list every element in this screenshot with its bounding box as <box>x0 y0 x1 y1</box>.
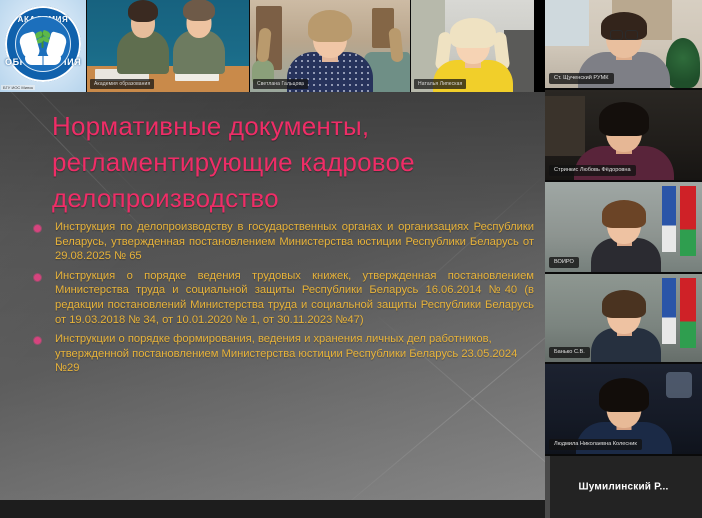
tile-plant <box>666 38 700 88</box>
tile-window <box>545 0 589 46</box>
participant-sidebar: Ст. Щученский РУМК Стринкис Любовь Фёдор… <box>545 0 702 500</box>
logo-corner-label: БГУ ИОС Минск <box>1 85 35 90</box>
slide-title: Нормативные документы, регламентирующие … <box>52 108 532 216</box>
book-icon <box>25 56 61 65</box>
shared-presentation-slide[interactable]: Нормативные документы, регламентирующие … <box>0 92 545 500</box>
participant-name-label: Ст. Щученский РУМК <box>549 73 614 84</box>
participant-name-label: Банько С.В. <box>549 347 590 358</box>
participant-name-label: Стринкис Любовь Фёдоровна <box>549 165 636 176</box>
tile-flag-blue <box>662 278 676 344</box>
list-item: Инструкции о порядке формирования, веден… <box>34 332 534 376</box>
tile-hair-right <box>388 27 403 62</box>
academy-logo-icon: АКАДЕМИЯ ОБРАЗОВАНИЯ <box>5 6 81 82</box>
slide-bullet-list: Инструкция по делопроизводству в государ… <box>34 220 534 381</box>
tile-person-hair <box>308 10 352 42</box>
bullet-marker-icon <box>34 274 41 281</box>
participant-name-label: Шумилинский Р... <box>545 482 702 493</box>
tile-person-hair <box>450 18 496 48</box>
participant-name-label: Светлана Гальцова <box>253 79 308 89</box>
participant-tile-academy-room[interactable]: Академия образования <box>87 0 250 92</box>
participant-tile-svetlana[interactable]: Светлана Гальцова <box>250 0 411 92</box>
tile-flag-blue <box>662 186 676 252</box>
tile-person-hair <box>599 378 649 412</box>
bullet-marker-icon <box>34 337 41 344</box>
list-item: Инструкция по делопроизводству в государ… <box>34 220 534 264</box>
tile-person-hair <box>602 290 646 318</box>
participant-tile-strinkis[interactable]: Стринкис Любовь Фёдоровна <box>545 90 702 182</box>
participant-name-label: Людмила Николаевна Колесник <box>549 439 642 450</box>
tile-flag-belarus <box>680 278 696 348</box>
bullet-text: Инструкции о порядке формирования, веден… <box>55 332 534 376</box>
participant-tile-voiro[interactable]: ВОИРО <box>545 182 702 274</box>
video-conference-screen: АКАДЕМИЯ ОБРАЗОВАНИЯ БГУ ИОС Минск <box>0 0 702 500</box>
tile-person-right <box>173 30 225 74</box>
participant-tile-kolesnik[interactable]: Людмила Николаевна Колесник <box>545 364 702 456</box>
logo-emblem <box>15 16 71 72</box>
tile-lamp <box>666 372 692 398</box>
participant-name-label: Академия образования <box>90 79 154 89</box>
participant-tile-shchuchenskiy-rumk[interactable]: Ст. Щученский РУМК <box>545 0 702 90</box>
eyeglasses-icon <box>610 30 638 38</box>
bullet-text: Инструкция о порядке ведения трудовых кн… <box>55 269 534 327</box>
tile-shelf <box>545 96 585 156</box>
participant-tile-natalya[interactable]: Наталья Липеская <box>411 0 534 92</box>
participant-name-label: ВОИРО <box>549 257 579 268</box>
participant-filmstrip: АКАДЕМИЯ ОБРАЗОВАНИЯ БГУ ИОС Минск <box>0 0 545 92</box>
bullet-marker-icon <box>34 225 41 232</box>
tile-person-left <box>117 30 169 74</box>
tile-flag-belarus <box>680 186 696 256</box>
list-item: Инструкция о порядке ведения трудовых кн… <box>34 269 534 327</box>
participant-tile-shumilinskiy[interactable]: Шумилинский Р... <box>545 456 702 518</box>
tile-person-hair <box>599 102 649 136</box>
participant-name-label: Наталья Липеская <box>414 79 466 89</box>
participant-tile-academy-logo[interactable]: АКАДЕМИЯ ОБРАЗОВАНИЯ БГУ ИОС Минск <box>0 0 87 92</box>
participant-tile-banko[interactable]: Банько С.В. <box>545 274 702 364</box>
tile-person-hair <box>602 200 646 228</box>
bullet-text: Инструкция по делопроизводству в государ… <box>55 220 534 264</box>
